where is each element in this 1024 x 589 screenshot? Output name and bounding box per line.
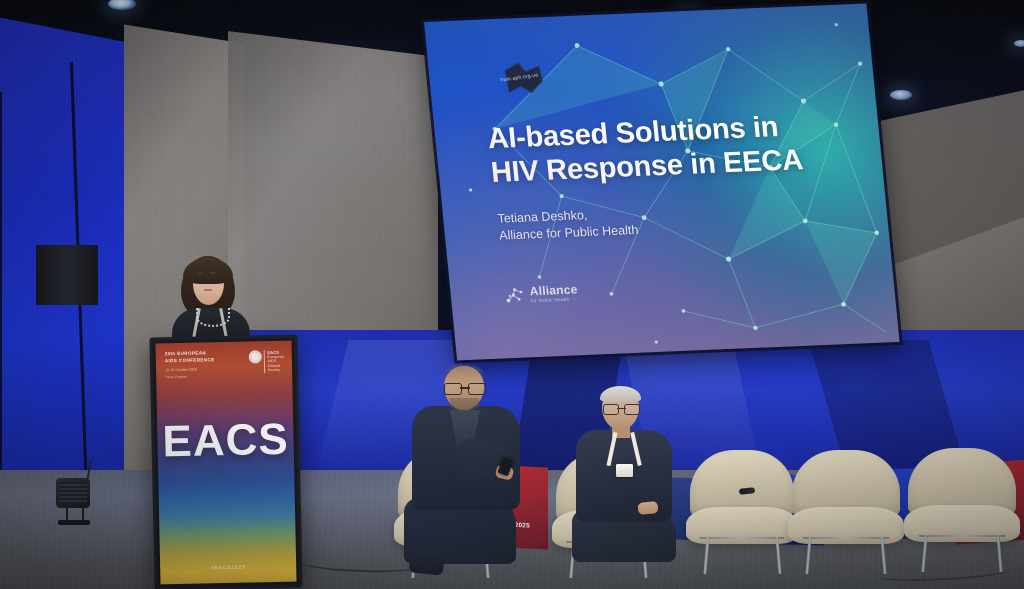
alliance-logo-name: Alliance (529, 283, 578, 297)
speaker-eye-right (211, 275, 215, 277)
glasses-bridge (460, 387, 470, 389)
chair-rail (700, 537, 783, 539)
ceiling-spotlight-icon (1014, 40, 1024, 47)
stage-light-base (58, 520, 90, 525)
glasses-icon (444, 383, 486, 393)
wall-seam (0, 92, 2, 512)
glasses-lens-left (603, 404, 619, 415)
speaker-brow-right (210, 272, 216, 274)
glasses-icon (603, 404, 640, 413)
necklace (196, 308, 230, 327)
chair (690, 450, 794, 574)
stage-light-fixture (52, 478, 96, 526)
slide-title: AI-based Solutions in HIV Response in EE… (486, 109, 823, 190)
eacs-logo-text: EACS European AIDS Clinical Society (264, 350, 284, 373)
speaker-mouth (204, 289, 212, 291)
panelist-left-shin (409, 546, 446, 575)
lectern-eacs-wordmark: EACS (157, 415, 294, 468)
lectern-stem (36, 245, 98, 305)
chair-rail (803, 537, 889, 539)
lectern-hashtag: #EACS2025 (160, 564, 296, 573)
eacs-logo: EACS European AIDS Clinical Society (248, 350, 284, 373)
panelist-left (404, 366, 530, 578)
projection-screen: Twin.aph.org.ua AI-based Solutions in HI… (424, 3, 899, 360)
lectern: 20th EUROPEAN AIDS CONFERENCE 15-18 Octo… (149, 334, 302, 589)
panelist-right-hair (600, 386, 641, 402)
chair-rail (919, 535, 1005, 537)
ceiling-spotlight-icon (890, 90, 912, 100)
speaker-brow-left (197, 272, 203, 274)
panelist-left-beard (450, 398, 479, 411)
glasses-lens-right (624, 404, 640, 415)
glasses-bridge (617, 408, 626, 409)
alliance-logo: Alliance for Public Health (504, 283, 578, 304)
alliance-network-icon (504, 287, 526, 304)
name-badge (616, 464, 633, 477)
panelist-right-hand (637, 501, 658, 515)
chair (908, 448, 1016, 572)
alliance-logo-text: Alliance for Public Health (529, 283, 578, 303)
speaker-hair-front (183, 258, 233, 284)
conference-stage-photo: Twin.aph.org.ua AI-based Solutions in HI… (0, 0, 1024, 589)
stage-light-lens (59, 482, 87, 504)
panelist-left-scalp (444, 365, 484, 383)
eacs-mark-line4: Society (268, 368, 284, 373)
speaker-at-podium (168, 256, 254, 348)
glasses-lens-left (444, 383, 462, 395)
lectern-subheading-line2: Paris, France (165, 372, 275, 380)
panelist-right (566, 388, 684, 574)
aph-corner-logo: Twin.aph.org.ua (494, 59, 550, 101)
speaker-eye-left (198, 275, 202, 277)
chair (792, 450, 900, 574)
lectern-branding-panel: 20th EUROPEAN AIDS CONFERENCE 15-18 Octo… (155, 341, 296, 585)
eacs-seal-icon (248, 350, 261, 363)
glasses-lens-right (468, 383, 486, 395)
